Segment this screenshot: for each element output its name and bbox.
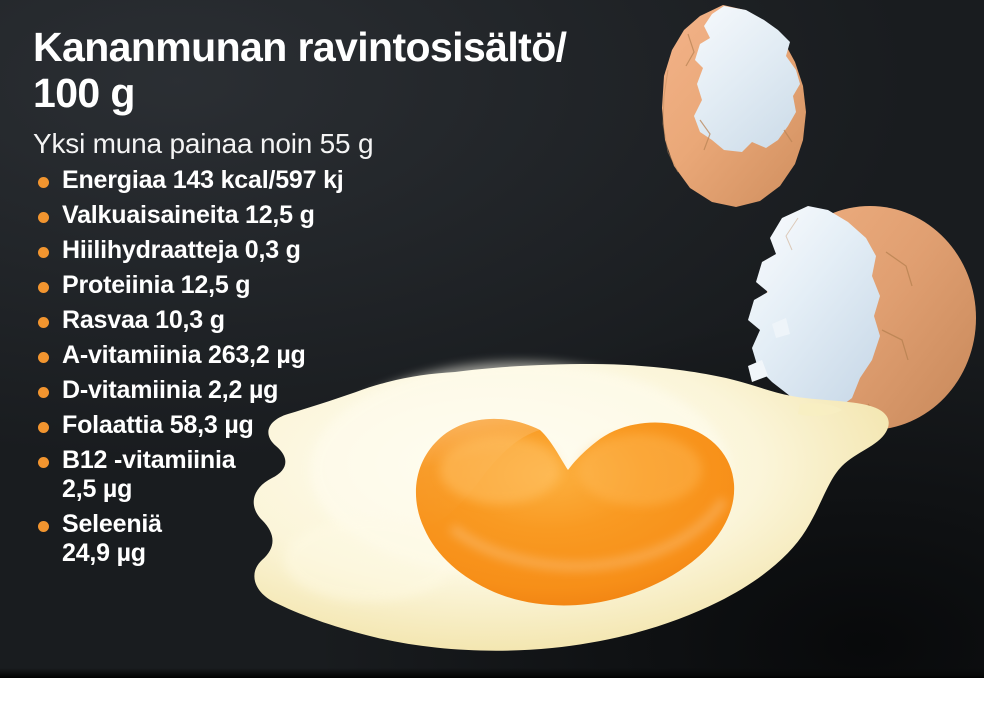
- nutrient-label: Proteiinia 12,5 g: [62, 271, 250, 299]
- bullet-icon: [38, 247, 49, 258]
- nutrient-label: Rasvaa 10,3 g: [62, 306, 225, 334]
- bullet-icon: [38, 352, 49, 363]
- bullet-icon: [38, 317, 49, 328]
- bullet-icon: [38, 457, 49, 468]
- egg-nutrition-infographic: Kananmunan ravintosisältö/ 100 g Yksi mu…: [0, 0, 984, 702]
- nutrient-label: Folaattia 58,3 µg: [62, 411, 254, 439]
- nutrient-value: 2,5 µg: [62, 475, 653, 504]
- eggshell-upper-illustration: [662, 5, 806, 207]
- list-item: Energiaa 143 kcal/597 kj: [33, 166, 653, 195]
- nutrient-label: B12 -vitamiinia: [62, 446, 235, 474]
- bullet-icon: [38, 282, 49, 293]
- nutrient-value: 24,9 µg: [62, 539, 653, 568]
- nutrient-label: Hiilihydraatteja 0,3 g: [62, 236, 301, 264]
- white-footer: [0, 678, 984, 702]
- nutrient-label: A-vitamiinia 263,2 µg: [62, 341, 306, 369]
- text-block: Kananmunan ravintosisältö/ 100 g Yksi mu…: [33, 24, 653, 568]
- eggshell-lower-illustration: [748, 206, 976, 430]
- list-item: Proteiinia 12,5 g: [33, 271, 653, 300]
- list-item: A-vitamiinia 263,2 µg: [33, 341, 653, 370]
- poster-bottom-edge: [0, 668, 984, 678]
- list-item: B12 -vitamiinia 2,5 µg: [33, 446, 653, 504]
- bullet-icon: [38, 387, 49, 398]
- subtitle: Yksi muna painaa noin 55 g: [33, 128, 653, 160]
- nutrient-label: Energiaa 143 kcal/597 kj: [62, 166, 344, 194]
- bullet-icon: [38, 422, 49, 433]
- list-item: Folaattia 58,3 µg: [33, 411, 653, 440]
- nutrient-label: Seleeniä: [62, 510, 162, 538]
- bullet-icon: [38, 521, 49, 532]
- bullet-icon: [38, 177, 49, 188]
- list-item: Rasvaa 10,3 g: [33, 306, 653, 335]
- list-item: Seleeniä 24,9 µg: [33, 510, 653, 568]
- nutrient-label: Valkuaisaineita 12,5 g: [62, 201, 315, 229]
- poster-panel: Kananmunan ravintosisältö/ 100 g Yksi mu…: [0, 0, 984, 678]
- nutrient-label: D-vitamiinia 2,2 µg: [62, 376, 278, 404]
- page-title: Kananmunan ravintosisältö/ 100 g: [33, 24, 653, 116]
- list-item: D-vitamiinia 2,2 µg: [33, 376, 653, 405]
- bullet-icon: [38, 212, 49, 223]
- list-item: Valkuaisaineita 12,5 g: [33, 201, 653, 230]
- list-item: Hiilihydraatteja 0,3 g: [33, 236, 653, 265]
- nutrient-list: Energiaa 143 kcal/597 kj Valkuaisaineita…: [33, 166, 653, 568]
